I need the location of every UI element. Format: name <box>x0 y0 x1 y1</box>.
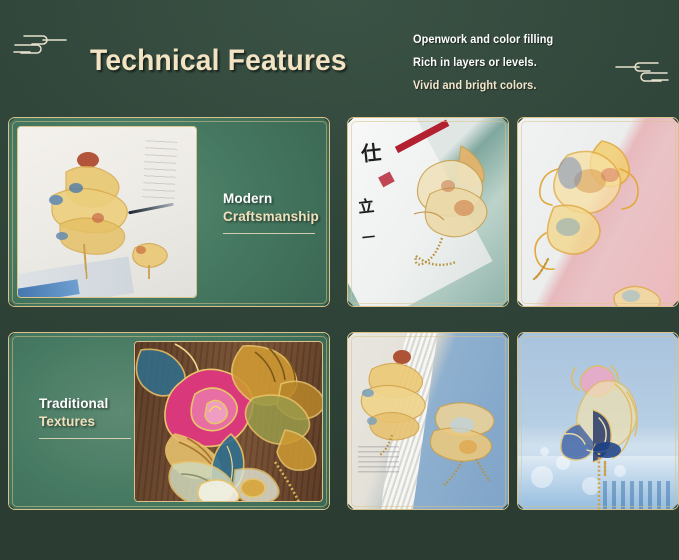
page-title: Technical Features <box>90 44 347 78</box>
panel-koi-bookmark[interactable]: 仕 立 一 <box>347 117 509 307</box>
corner-notch <box>8 503 15 510</box>
caption-modern-craftsmanship: Modern Craftsmanship <box>223 191 319 234</box>
panel-blue-lotus-bookmark[interactable] <box>517 332 679 510</box>
caption-traditional-textures: Traditional Textures <box>39 396 131 439</box>
cloud-motif-icon <box>610 55 672 89</box>
cloud-motif-icon <box>10 26 72 60</box>
photo-koi-bookmark: 仕 立 一 <box>348 118 508 306</box>
panel-traditional-textures[interactable]: Traditional Textures <box>8 332 330 510</box>
photo-modern-craftsmanship[interactable] <box>17 126 197 298</box>
caption-line-2: Textures <box>39 414 131 429</box>
caption-underline <box>223 233 315 234</box>
photo-blue-lotus-bookmark <box>518 333 678 509</box>
corner-notch <box>8 300 15 307</box>
photo-golden-phoenix-bookmark <box>518 118 678 306</box>
panel-modern-craftsmanship[interactable]: Modern Craftsmanship <box>8 117 330 307</box>
photo-pair-of-bookmarks <box>348 333 508 509</box>
feature-bullet-list: Openwork and color filling Rich in layer… <box>413 34 561 103</box>
caption-line-1: Modern <box>223 191 319 206</box>
caption-line-2: Craftsmanship <box>223 209 319 224</box>
corner-notch <box>8 332 15 339</box>
panel-pair-of-bookmarks[interactable] <box>347 332 509 510</box>
feature-bullet: Vivid and bright colors. <box>413 80 553 92</box>
corner-notch <box>8 117 15 124</box>
corner-notch <box>323 332 330 339</box>
photo-traditional-textures[interactable] <box>134 341 323 502</box>
page-header: Technical Features Openwork and color fi… <box>0 0 679 110</box>
corner-notch <box>323 117 330 124</box>
feature-bullet: Rich in layers or levels. <box>413 57 553 69</box>
panel-golden-phoenix-bookmark[interactable] <box>517 117 679 307</box>
corner-notch <box>323 300 330 307</box>
corner-notch <box>323 503 330 510</box>
feature-bullet: Openwork and color filling <box>413 34 553 46</box>
caption-line-1: Traditional <box>39 396 131 411</box>
caption-underline <box>39 438 131 439</box>
product-feature-page: Technical Features Openwork and color fi… <box>0 0 679 560</box>
